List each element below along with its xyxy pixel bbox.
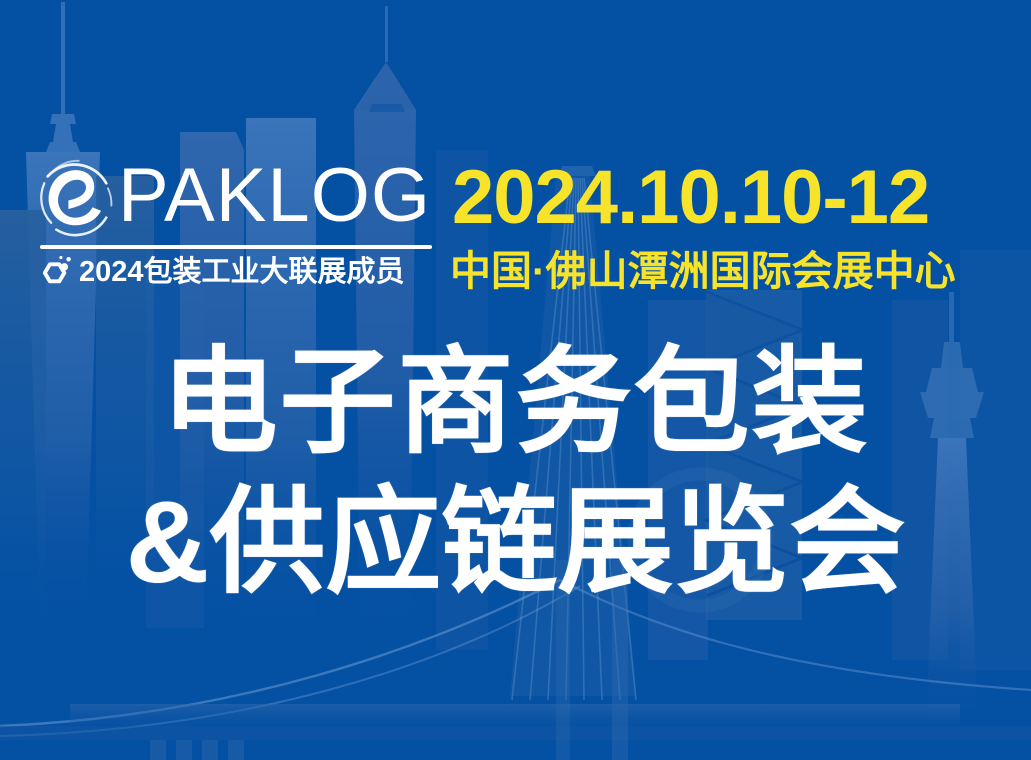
headline-line-1: 电子商务包装 xyxy=(0,332,1031,472)
logo-divider xyxy=(40,245,432,249)
event-banner: PAKLOG 2024包装工业大联展成员 2024.10.10-12 中国·佛山… xyxy=(0,0,1031,760)
event-date: 2024.10.10-12 xyxy=(452,158,929,238)
paklog-logo: PAKLOG 2024包装工业大联展成员 xyxy=(34,150,434,295)
hexagon-molecule-icon xyxy=(38,254,72,290)
headline-line-2: &供应链展览会 xyxy=(0,472,1031,612)
event-venue: 中国·佛山潭洲国际会展中心 xyxy=(450,247,956,295)
page-title: 电子商务包装 &供应链展览会 xyxy=(0,332,1031,612)
logo-wordmark: PAKLOG xyxy=(118,156,431,236)
stylized-e-brush-circle-icon xyxy=(34,154,120,240)
member-badge: 2024包装工业大联展成员 xyxy=(38,254,405,290)
member-badge-label: 2024包装工业大联展成员 xyxy=(79,254,405,290)
